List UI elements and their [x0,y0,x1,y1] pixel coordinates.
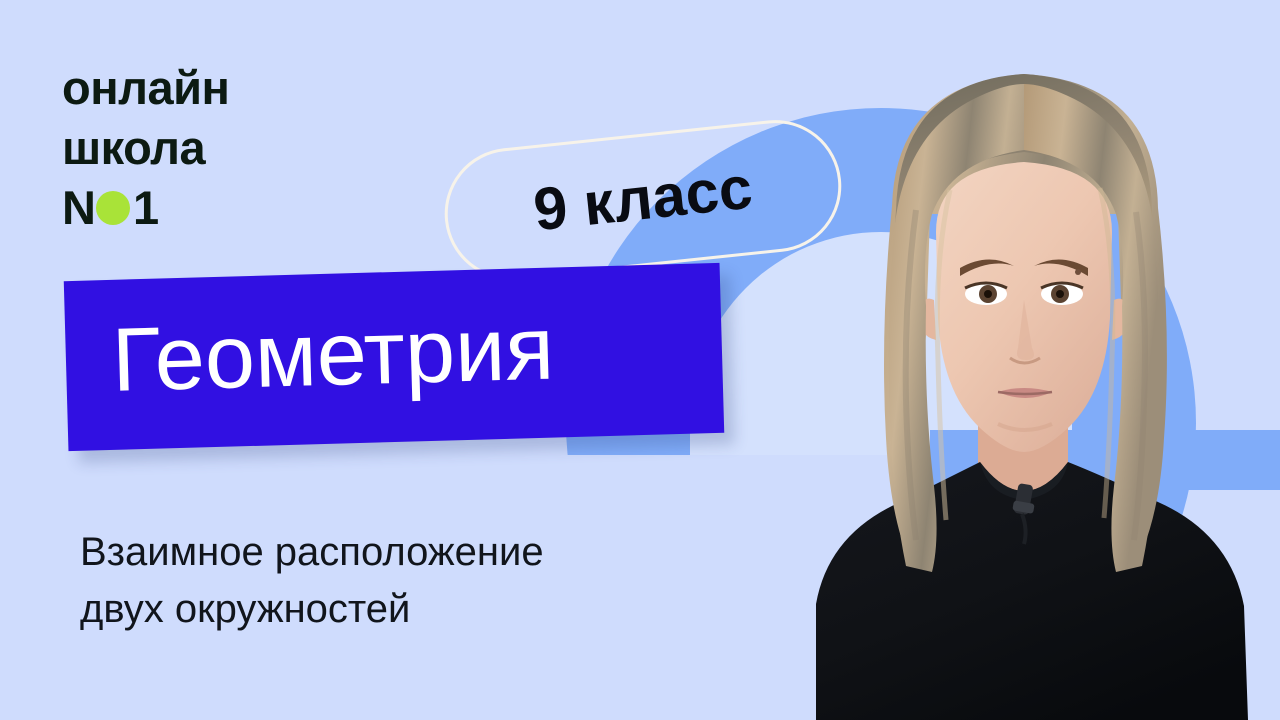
grade-badge-label: 9 класс [530,152,755,244]
lesson-subtitle-line-1: Взаимное расположение [80,524,760,581]
logo-line-3: N 1 [62,178,229,238]
subject-title-label: Геометрия [65,297,556,414]
logo-line-2: школа [62,118,229,178]
lesson-subtitle-line-2: двух окружностей [80,581,760,638]
subject-title-banner: Геометрия [64,263,724,451]
logo-letter-n: N [62,178,94,238]
lesson-subtitle: Взаимное расположение двух окружностей [80,524,760,638]
logo-line-1: онлайн [62,58,229,118]
lesson-title-slide: онлайн школа N 1 9 класс Геометрия Взаим… [0,0,1280,720]
presenter-photo [800,0,1280,720]
logo-number-one: 1 [133,178,159,238]
brand-logo: онлайн школа N 1 [62,58,229,238]
lime-dot-icon [96,191,130,225]
